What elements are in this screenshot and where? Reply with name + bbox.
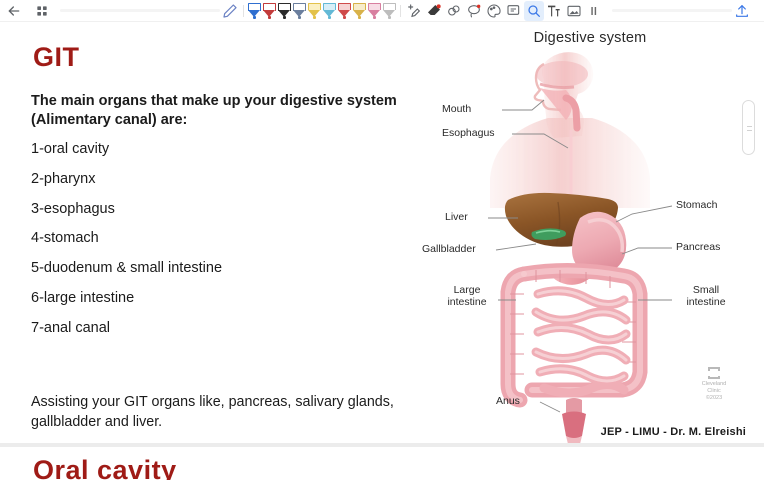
list-item: 1-oral cavity	[31, 142, 431, 157]
insert-image-icon[interactable]	[564, 1, 584, 21]
figure-label-gallbladder: Gallbladder	[422, 243, 476, 255]
page-title: GIT	[33, 42, 80, 73]
list-item: 7-anal canal	[31, 321, 431, 336]
share-export-icon[interactable]	[732, 1, 752, 21]
list-item: 4-stomach	[31, 231, 431, 246]
pen-red-icon[interactable]	[262, 1, 277, 20]
pen-nib	[328, 16, 331, 19]
top-toolbar	[0, 0, 764, 22]
credit-line-2: Clinic	[690, 388, 738, 395]
list-item: 2-pharynx	[31, 172, 431, 187]
list-item: 5-duodenum & small intestine	[31, 261, 431, 276]
pen-barrel	[353, 3, 366, 10]
highlighter-gold-icon[interactable]	[352, 1, 367, 20]
digestive-system-figure: Digestive system	[440, 22, 760, 445]
pen-barrel	[338, 3, 351, 10]
figure-label-stomach: Stomach	[676, 199, 717, 211]
slide-page-3: GIT The main organs that make up your di…	[0, 22, 764, 445]
slide-page-4: Oral cavity	[0, 447, 764, 480]
slide-lead-text: The main organs that make up your digest…	[31, 92, 421, 131]
document-title-placeholder	[60, 9, 220, 12]
pen-nib	[298, 16, 301, 19]
toolbar-divider-2	[400, 5, 401, 17]
toolbar-track	[612, 9, 732, 12]
figure-label-large-intestine: Large intestine	[438, 284, 496, 309]
pen-tool-group	[247, 1, 397, 20]
pen-barrel	[368, 3, 381, 10]
lasso-select-icon[interactable]	[464, 1, 484, 21]
pen-blue-icon[interactable]	[247, 1, 262, 20]
organ-list: 1-oral cavity2-pharynx3-esophagus4-stoma…	[31, 142, 431, 351]
highlighter-plain-icon[interactable]	[382, 1, 397, 20]
pen-nib	[358, 16, 361, 19]
apps-grid-icon[interactable]	[32, 1, 52, 21]
sticky-note-icon[interactable]	[504, 1, 524, 21]
toolbar-divider-1	[243, 5, 244, 17]
cleveland-clinic-credit: Cleveland Clinic ©2023	[690, 367, 738, 402]
pdf-annotator-app: GIT The main organs that make up your di…	[0, 0, 764, 480]
scroll-grip-line	[747, 126, 752, 127]
vertical-scrollbar-thumb[interactable]	[742, 100, 755, 155]
pen-nib	[268, 16, 271, 19]
next-page-title: Oral cavity	[33, 455, 177, 480]
pen-black-icon[interactable]	[277, 1, 292, 20]
figure-label-liver: Liver	[445, 211, 468, 223]
pen-nib	[388, 16, 391, 19]
pen-grey-icon[interactable]	[292, 1, 307, 20]
pause-icon[interactable]	[584, 1, 604, 21]
credit-line-1: Cleveland	[690, 381, 738, 388]
list-item: 3-esophagus	[31, 202, 431, 217]
list-item: 6-large intestine	[31, 291, 431, 306]
figure-label-esophagus: Esophagus	[442, 127, 495, 139]
back-arrow-icon[interactable]	[4, 1, 24, 21]
figure-label-anus: Anus	[496, 395, 520, 407]
highlighter-cyan-icon[interactable]	[322, 1, 337, 20]
pen-nib	[343, 16, 346, 19]
pencil-icon[interactable]	[220, 1, 240, 21]
pen-nib	[373, 16, 376, 19]
highlighter-yellow-icon[interactable]	[307, 1, 322, 20]
cleveland-clinic-logo-icon	[708, 367, 720, 379]
figure-label-mouth: Mouth	[442, 103, 471, 115]
highlighter-pink-icon[interactable]	[367, 1, 382, 20]
pen-barrel	[308, 3, 321, 10]
credit-line-3: ©2023	[690, 395, 738, 402]
scroll-grip-line	[747, 130, 752, 131]
pen-nib	[313, 16, 316, 19]
eraser-icon[interactable]	[424, 1, 444, 21]
add-pen-icon[interactable]	[404, 1, 424, 21]
pen-nib	[283, 16, 286, 19]
figure-label-pancreas: Pancreas	[676, 241, 720, 253]
highlighter-red-icon[interactable]	[337, 1, 352, 20]
pen-barrel	[323, 3, 336, 10]
pen-nib	[253, 16, 256, 19]
color-palette-icon[interactable]	[484, 1, 504, 21]
shape-circle-icon[interactable]	[444, 1, 464, 21]
slide-footer-credit: JEP - LIMU - Dr. M. Elreishi	[601, 426, 746, 438]
slide-closing-text: Assisting your GIT organs like, pancreas…	[31, 393, 426, 432]
figure-label-small-intestine: Small intestine	[678, 284, 734, 309]
pen-barrel	[383, 3, 396, 10]
text-tool-icon[interactable]	[544, 1, 564, 21]
magnifier-icon[interactable]	[524, 1, 544, 21]
